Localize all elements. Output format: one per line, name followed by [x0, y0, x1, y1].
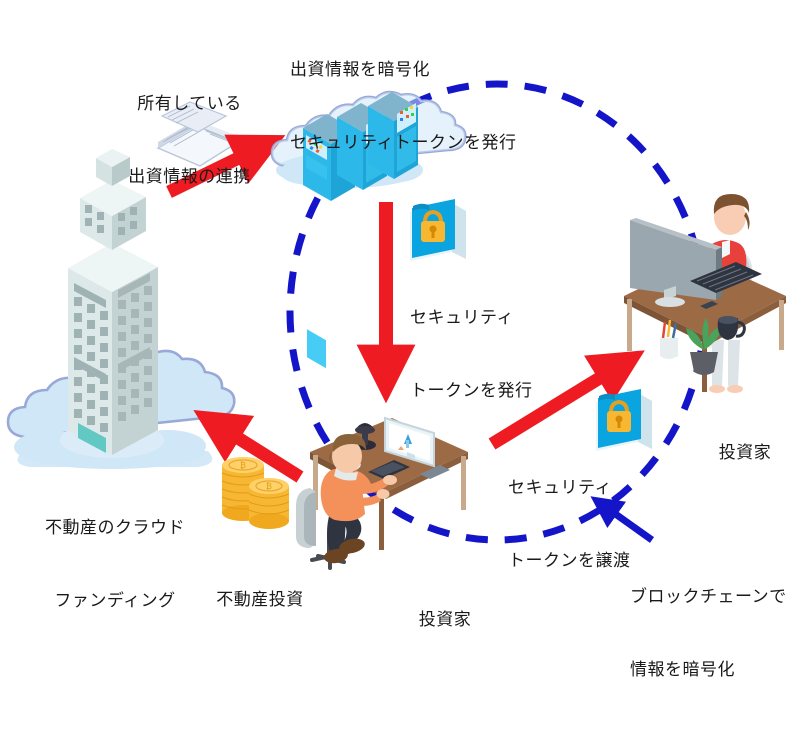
label-encrypt-issue-line1: 出資情報を暗号化: [290, 58, 550, 82]
svg-text:₿: ₿: [266, 482, 272, 491]
label-investor-bottom: 投資家: [400, 560, 490, 681]
label-blockchain-encrypt-line2: 情報を暗号化: [630, 658, 800, 682]
label-encrypt-issue: 出資情報を暗号化 セキュリティトークンを発行: [290, 10, 550, 203]
label-crowdfunding: 不動産のクラウド ファンディング: [20, 468, 210, 661]
label-transfer-token-line1: セキュリティ: [508, 476, 668, 500]
label-crowdfunding-line2: ファンディング: [20, 589, 210, 613]
label-issue-token: セキュリティ トークンを発行: [410, 258, 560, 451]
label-investor-right-line1: 投資家: [700, 441, 790, 465]
label-issue-token-line1: セキュリティ: [410, 306, 560, 330]
svg-text:₿: ₿: [240, 461, 246, 470]
label-blockchain-encrypt-line1: ブロックチェーンで: [630, 585, 800, 609]
standing-investor-desk-icon: [624, 194, 786, 393]
label-real-estate-investment-line1: 不動産投資: [200, 588, 320, 612]
label-share-info-line1: 所有している: [102, 92, 277, 116]
label-real-estate-investment: 不動産投資: [200, 540, 320, 661]
encrypted-folder-lock-icon-top: [410, 199, 466, 261]
label-encrypt-issue-line2: セキュリティトークンを発行: [290, 131, 550, 155]
label-investor-right: 投資家: [700, 393, 790, 514]
label-crowdfunding-line1: 不動産のクラウド: [20, 516, 210, 540]
label-investor-bottom-line1: 投資家: [400, 608, 490, 632]
label-issue-token-line2: トークンを発行: [410, 379, 560, 403]
diagram-canvas: ₿ ₿: [0, 0, 800, 600]
label-share-info: 所有している 出資情報の連携: [102, 44, 277, 237]
label-share-info-line2: 出資情報の連携: [102, 165, 277, 189]
label-blockchain-encrypt: ブロックチェーンで 情報を暗号化: [630, 537, 800, 730]
